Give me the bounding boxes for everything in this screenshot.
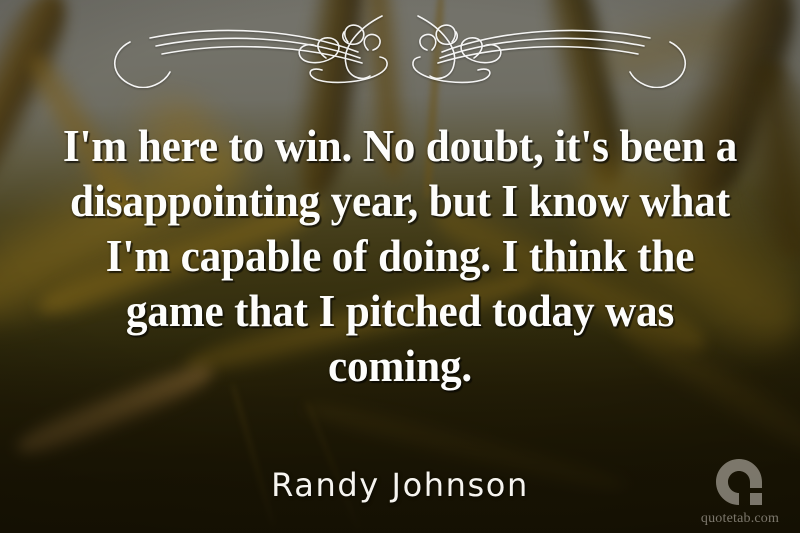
quotetab-logo-icon	[712, 457, 768, 509]
quote-line: game that I pitched today was	[56, 283, 744, 338]
decorative-flourish-divider	[90, 14, 710, 88]
quote-card: I'm here to win. No doubt, it's been a d…	[0, 0, 800, 533]
quote-line: I'm capable of doing. I think the	[56, 228, 744, 283]
quote-line: coming.	[56, 338, 744, 393]
watermark-text: quotetab.com	[692, 511, 788, 527]
quote-line: I'm here to win. No doubt, it's been a	[56, 118, 744, 173]
quote-author: Randy Johnson	[0, 466, 800, 504]
quote-text: I'm here to win. No doubt, it's been a d…	[0, 118, 800, 393]
quote-line: disappointing year, but I know what	[56, 173, 744, 228]
watermark[interactable]: quotetab.com	[692, 457, 788, 527]
